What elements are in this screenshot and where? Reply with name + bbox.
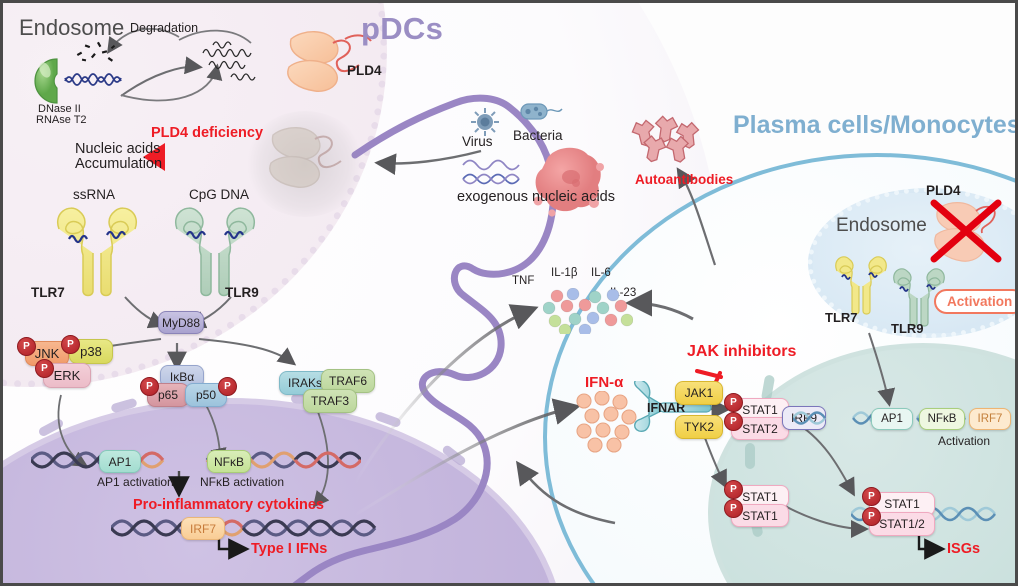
activation-badge[interactable]: Activation: [934, 289, 1018, 314]
cpg-dna-label: CpG DNA: [189, 187, 249, 202]
phospho-badge: P: [724, 480, 743, 499]
jak1-node[interactable]: JAK1: [675, 381, 723, 405]
isgs-label: ISGs: [947, 541, 980, 557]
plasma-nucleus-activation-label: Activation: [938, 434, 990, 448]
degradation-label: Degradation: [130, 21, 198, 35]
phospho-badge: P: [17, 337, 36, 356]
type-i-ifns-label: Type I IFNs: [251, 541, 327, 557]
ifn-alpha-molecules-icon: [575, 391, 641, 453]
dna-helix-top: [31, 443, 361, 477]
il1b-label: IL-1β: [551, 267, 577, 279]
tyk2-node[interactable]: TYK2: [675, 415, 723, 439]
plasma-irf7-node[interactable]: IRF7: [969, 408, 1011, 430]
tlr9-label: TLR9: [225, 285, 259, 300]
plasma-endosome-label: Endosome: [836, 215, 927, 237]
ssrna-label: ssRNA: [73, 187, 115, 202]
degraded-debris-icon: [75, 39, 121, 65]
exogenous-nucleic-acid-icon: [461, 155, 527, 187]
exogenous-nucleic-acids-label: exogenous nucleic acids: [457, 189, 615, 205]
phospho-badge: P: [140, 377, 159, 396]
rnaset2-label: RNAse T2: [36, 114, 87, 126]
virus-label: Virus: [462, 134, 493, 149]
nucleic-acid-accumulation-line2: Accumulation: [75, 156, 162, 172]
virus-icon: [470, 107, 500, 137]
phospho-badge: P: [724, 412, 743, 431]
plasma-nfkb-node[interactable]: NFκB: [919, 408, 965, 430]
phospho-badge: P: [61, 335, 80, 354]
tnf-label: TNF: [512, 275, 534, 287]
pld4-label: PLD4: [347, 63, 382, 78]
damaged-cell-icon: [530, 141, 610, 219]
pdcs-panel-title: pDCs: [361, 11, 443, 47]
il6-label: IL-6: [591, 267, 611, 279]
pld4-deficient-icon: [261, 121, 353, 201]
ifn-alpha-label: IFN-α: [585, 374, 623, 391]
plasma-panel-title: Plasma cells/Monocytes: [733, 111, 1018, 140]
pdc-endosome-label: Endosome: [19, 15, 124, 41]
phospho-badge: P: [724, 393, 743, 412]
irf7-node[interactable]: IRF7: [181, 517, 225, 540]
tlr7-label: TLR7: [31, 285, 65, 300]
plasma-ap1-node[interactable]: AP1: [871, 408, 913, 430]
pld4-deficiency-label: PLD4 deficiency: [151, 125, 263, 141]
nfkb-node[interactable]: NFκB: [207, 450, 251, 473]
traf3-node[interactable]: TRAF3: [303, 389, 357, 413]
jak-inhibitors-label: JAK inhibitors: [687, 343, 796, 361]
cytokine-cloud-icon: [543, 288, 633, 334]
dna-helix-bottom: [111, 511, 395, 545]
nucleic-acid-accumulation-line1: Nucleic acids: [75, 141, 160, 157]
phospho-badge: P: [724, 499, 743, 518]
ap1-node[interactable]: AP1: [99, 450, 141, 473]
phospho-badge: P: [862, 487, 881, 506]
figure-canvas: Endosome Degradation: [0, 0, 1018, 586]
pld4-protein-icon: [281, 27, 373, 97]
bacteria-icon: [519, 101, 563, 123]
phospho-badge: P: [218, 377, 237, 396]
autoantibodies-label: Autoantibodies: [635, 172, 733, 187]
nuclear-pore: [745, 443, 755, 469]
nfkb-activation-label: NFκB activation: [200, 475, 284, 489]
nucleic-acid-strand-icon: [63, 69, 131, 91]
pld4-crossed-out-icon: [928, 195, 1004, 267]
free-nucleic-acids-icon: [199, 37, 275, 85]
plasma-tlr7-icon: [829, 253, 891, 317]
ap1-activation-label: AP1 activation: [97, 475, 174, 489]
plasma-tlr9-label: TLR9: [891, 321, 924, 336]
myd88-node[interactable]: MyD88: [158, 311, 204, 334]
phospho-badge: P: [862, 507, 881, 526]
autoantibodies-icon: [629, 115, 711, 167]
phospho-badge: P: [35, 359, 54, 378]
plasma-tlr7-label: TLR7: [825, 310, 858, 325]
